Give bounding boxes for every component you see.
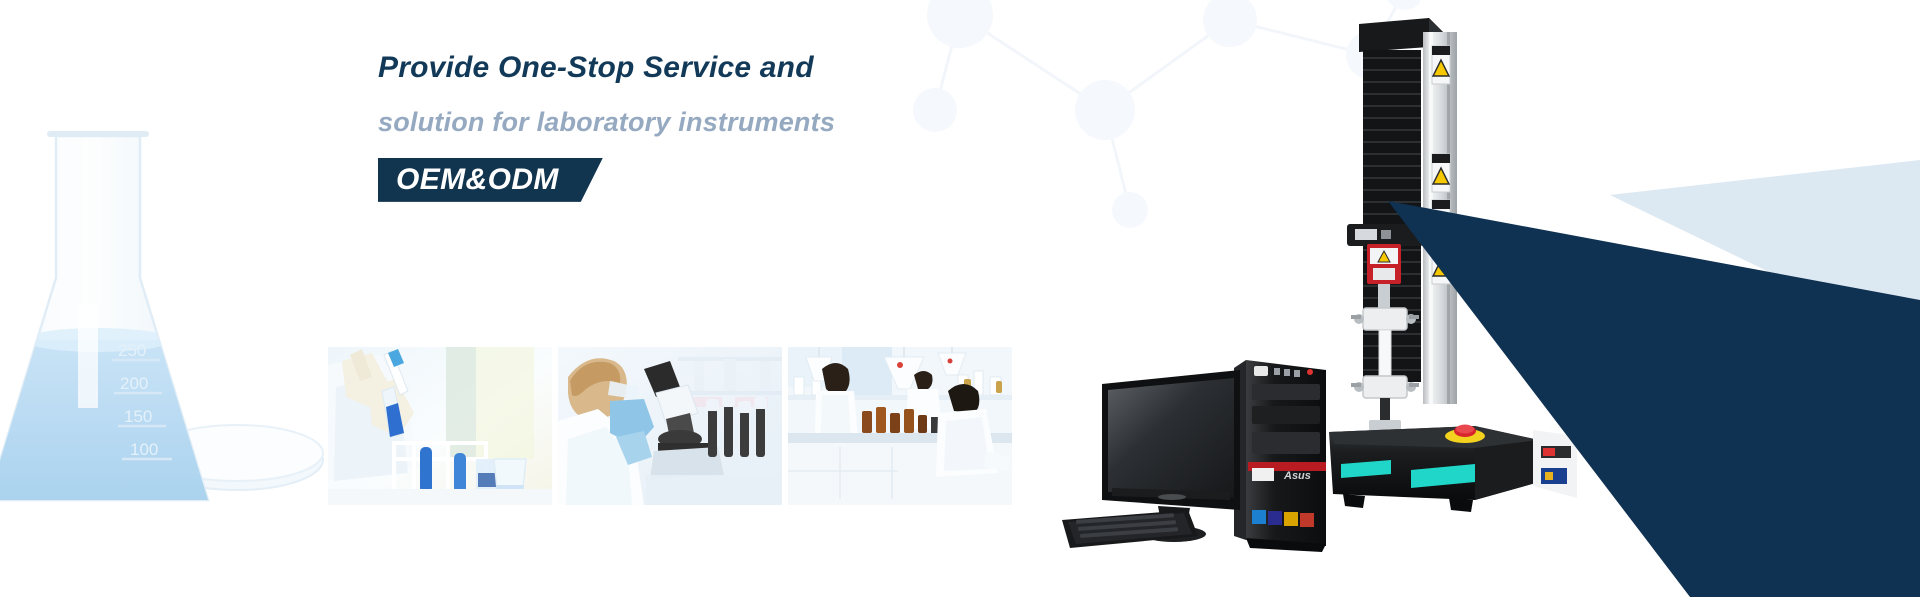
wedge-light — [1610, 160, 1920, 345]
erlenmeyer-flask-icon: 250 200 150 100 — [0, 108, 324, 528]
wedge-dark — [1388, 201, 1920, 597]
svg-text:200: 200 — [120, 374, 148, 393]
desktop-computer-icon: Asus — [1040, 340, 1340, 555]
universal-testing-machine-icon — [1325, 12, 1585, 530]
svg-text:Asus: Asus — [1283, 470, 1311, 482]
svg-text:250: 250 — [118, 341, 146, 360]
photo-strip — [328, 347, 1012, 505]
headline-block: Provide One-Stop Service and solution fo… — [378, 52, 1018, 202]
photo-lab-bench — [788, 347, 1012, 505]
promo-banner: 250 200 150 100 Provide One-Stop Service… — [0, 0, 1920, 597]
headline-secondary: solution for laboratory instruments — [378, 108, 1018, 136]
headline-primary: Provide One-Stop Service and — [378, 52, 1018, 84]
svg-text:150: 150 — [124, 407, 152, 426]
decorative-wedges — [1360, 0, 1920, 597]
photo-microscope — [558, 347, 782, 505]
svg-text:100: 100 — [130, 440, 158, 459]
oem-odm-badge: OEM&ODM — [378, 158, 603, 202]
photo-pipetting — [328, 347, 552, 505]
